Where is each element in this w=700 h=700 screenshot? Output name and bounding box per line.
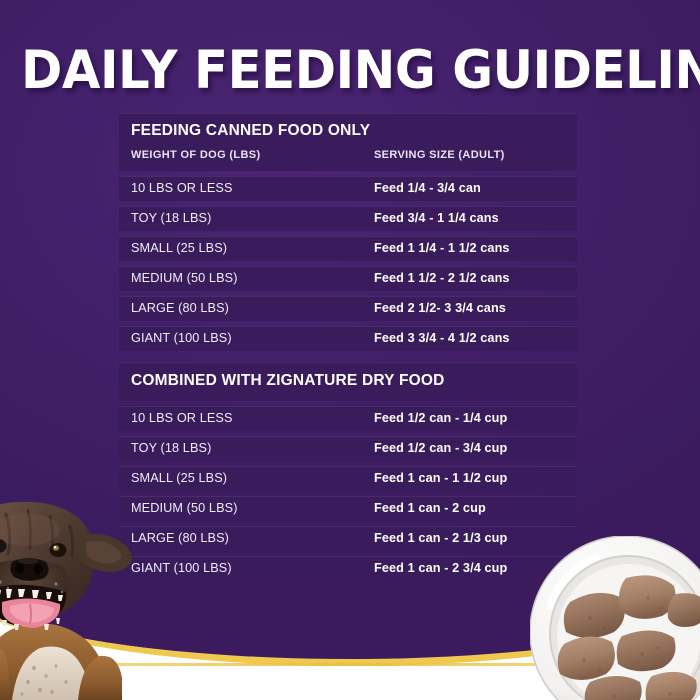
row-weight: TOY (18 LBS) — [131, 441, 374, 455]
table-row: LARGE (80 LBS) Feed 2 1/2- 3 3/4 cans — [119, 296, 577, 321]
table-row: MEDIUM (50 LBS) Feed 1 1/2 - 2 1/2 cans — [119, 266, 577, 291]
table-row: TOY (18 LBS) Feed 1/2 can - 3/4 cup — [119, 436, 577, 461]
column-headers: WEIGHT OF DOG (LBS) SERVING SIZE (ADULT) — [131, 145, 565, 163]
column-header-weight: WEIGHT OF DOG (LBS) — [131, 149, 260, 161]
row-weight: GIANT (100 LBS) — [131, 561, 374, 575]
row-serving: Feed 1/2 can - 3/4 cup — [374, 441, 507, 455]
table-row: LARGE (80 LBS) Feed 1 can - 2 1/3 cup — [119, 526, 577, 551]
section-title: FEEDING CANNED FOOD ONLY — [131, 121, 565, 142]
table-row: 10 LBS OR LESS Feed 1/4 - 3/4 can — [119, 176, 577, 201]
table-row: GIANT (100 LBS) Feed 1 can - 2 3/4 cup — [119, 556, 577, 581]
row-weight: LARGE (80 LBS) — [131, 531, 374, 545]
table-row: TOY (18 LBS) Feed 3/4 - 1 1/4 cans — [119, 206, 577, 231]
column-header-serving: SERVING SIZE (ADULT) — [374, 149, 505, 161]
section-header-canned: FEEDING CANNED FOOD ONLY WEIGHT OF DOG (… — [119, 113, 577, 171]
row-weight: MEDIUM (50 LBS) — [131, 271, 374, 285]
row-weight: SMALL (25 LBS) — [131, 241, 374, 255]
row-weight: GIANT (100 LBS) — [131, 331, 374, 345]
page-title: DAILY FEEDING GUIDELINES — [21, 44, 679, 97]
table-row: MEDIUM (50 LBS) Feed 1 can - 2 cup — [119, 496, 577, 521]
section-title: COMBINED WITH ZIGNATURE DRY FOOD — [131, 371, 565, 392]
row-weight: MEDIUM (50 LBS) — [131, 501, 374, 515]
row-weight: TOY (18 LBS) — [131, 211, 374, 225]
dog-food-bowl-photo — [530, 536, 700, 700]
row-serving: Feed 2 1/2- 3 3/4 cans — [374, 301, 506, 315]
row-serving: Feed 1 can - 2 3/4 cup — [374, 561, 507, 575]
row-serving: Feed 1 can - 1 1/2 cup — [374, 471, 507, 485]
table-row: 10 LBS OR LESS Feed 1/2 can - 1/4 cup — [119, 406, 577, 431]
table-row: SMALL (25 LBS) Feed 1 1/4 - 1 1/2 cans — [119, 236, 577, 261]
row-serving: Feed 1/2 can - 1/4 cup — [374, 411, 507, 425]
row-serving: Feed 1 can - 2 cup — [374, 501, 486, 515]
row-weight: 10 LBS OR LESS — [131, 411, 374, 425]
row-weight: LARGE (80 LBS) — [131, 301, 374, 315]
feeding-table: FEEDING CANNED FOOD ONLY WEIGHT OF DOG (… — [119, 113, 577, 586]
row-serving: Feed 1 can - 2 1/3 cup — [374, 531, 507, 545]
row-serving: Feed 3/4 - 1 1/4 cans — [374, 211, 499, 225]
table-row: SMALL (25 LBS) Feed 1 can - 1 1/2 cup — [119, 466, 577, 491]
dog-photo — [0, 500, 157, 700]
row-weight: 10 LBS OR LESS — [131, 181, 374, 195]
section-header-combined: COMBINED WITH ZIGNATURE DRY FOOD — [119, 362, 577, 401]
row-serving: Feed 1/4 - 3/4 can — [374, 181, 481, 195]
table-row: GIANT (100 LBS) Feed 3 3/4 - 4 1/2 cans — [119, 326, 577, 351]
row-serving: Feed 3 3/4 - 4 1/2 cans — [374, 331, 510, 345]
row-weight: SMALL (25 LBS) — [131, 471, 374, 485]
row-serving: Feed 1 1/2 - 2 1/2 cans — [374, 271, 510, 285]
feeding-guidelines-poster: DAILY FEEDING GUIDELINES FEEDING CANNED … — [0, 0, 700, 700]
row-serving: Feed 1 1/4 - 1 1/2 cans — [374, 241, 510, 255]
